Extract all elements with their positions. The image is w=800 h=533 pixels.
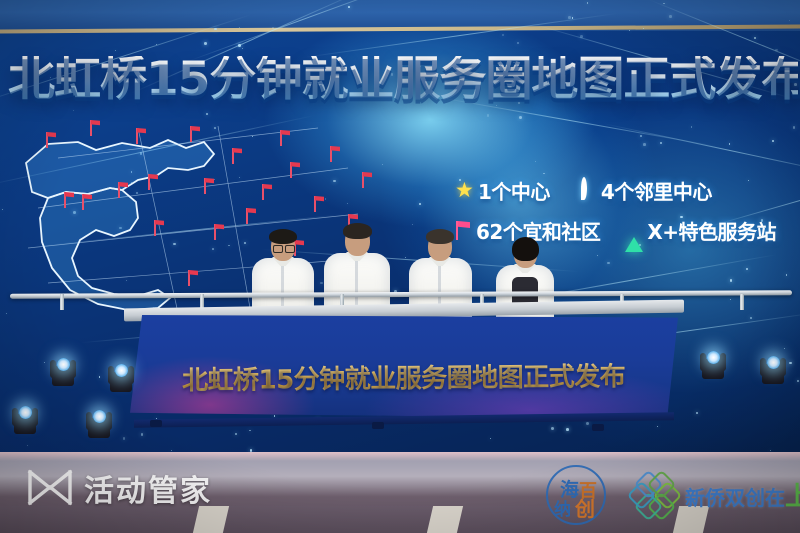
watermark-huodongguanjia: 活动管家 — [27, 466, 212, 510]
event-photo: 北虹桥15分钟就业服务圈地图正式发布 北虹桥15分钟就业服务圈地图正式发布 ★ … — [0, 0, 800, 533]
participant-hair — [426, 229, 454, 244]
triangle-icon — [624, 220, 643, 241]
watermark-right-text: 新侨双创在上海 — [685, 476, 800, 513]
seal-char-3: 纳 — [554, 495, 571, 520]
floor-stripe — [427, 506, 463, 533]
participant-glasses-icon — [273, 245, 283, 253]
moving-head-light — [86, 404, 112, 438]
moving-head-light — [50, 352, 76, 386]
podium-caster — [150, 420, 162, 427]
floor-highlight — [0, 452, 800, 461]
podium-caster — [372, 422, 384, 429]
xinqiao-text-1: 新侨双创在 — [685, 486, 785, 510]
participant-hair — [512, 237, 539, 261]
podium-banner-text: 北虹桥15分钟就业服务圈地图正式发布 — [182, 356, 652, 398]
participant-hair — [269, 229, 297, 244]
watermark-circular-seal: 海 百 纳 创 — [546, 465, 606, 525]
seal-char-4: 创 — [575, 493, 595, 522]
legend-label-service-station: X+特色服务站 — [647, 216, 776, 245]
xinqiao-text-2: 上海 — [785, 482, 800, 512]
map-legend: ★ 1个中心 4个邻里中心 62个宜和社区 X+特色服务站 — [455, 176, 795, 256]
star-icon: ★ — [455, 180, 474, 201]
watermark-xinqiao: 新侨双创在上海 — [627, 468, 800, 520]
flag-icon — [453, 220, 472, 241]
legend-label-center: 1个中心 — [478, 176, 550, 205]
participant-glasses-icon — [285, 245, 295, 253]
huodongguanjia-logo-icon — [27, 469, 73, 507]
legend-item-neighborhood: 4个邻里中心 — [578, 176, 712, 205]
legend-row-2: 62个宜和社区 X+特色服务站 — [455, 216, 795, 245]
led-main-title: 北虹桥15分钟就业服务圈地图正式发布 — [8, 56, 798, 103]
legend-item-service-station: X+特色服务站 — [624, 216, 776, 245]
watermark-left-text: 活动管家 — [84, 466, 212, 510]
podium: 北虹桥15分钟就业服务圈地图正式发布 — [122, 304, 686, 426]
podium-caster — [592, 424, 604, 431]
legend-item-center: ★ 1个中心 — [455, 176, 550, 205]
participant-hair — [343, 223, 372, 239]
legend-label-community: 62个宜和社区 — [476, 216, 600, 245]
railing-post — [740, 294, 744, 310]
railing-post — [60, 294, 64, 310]
moving-head-light — [700, 345, 726, 379]
podium-front-panel: 北虹桥15分钟就业服务圈地图正式发布 — [130, 315, 678, 419]
moving-head-light — [12, 400, 38, 434]
legend-label-neighborhood: 4个邻里中心 — [601, 176, 712, 205]
legend-row-1: ★ 1个中心 4个邻里中心 — [455, 176, 795, 205]
interlocking-knot-icon — [627, 468, 679, 520]
moving-head-light — [760, 350, 786, 384]
moving-head-light — [108, 358, 134, 392]
map-pin-icon — [578, 180, 597, 201]
floor-stripe — [193, 506, 229, 533]
